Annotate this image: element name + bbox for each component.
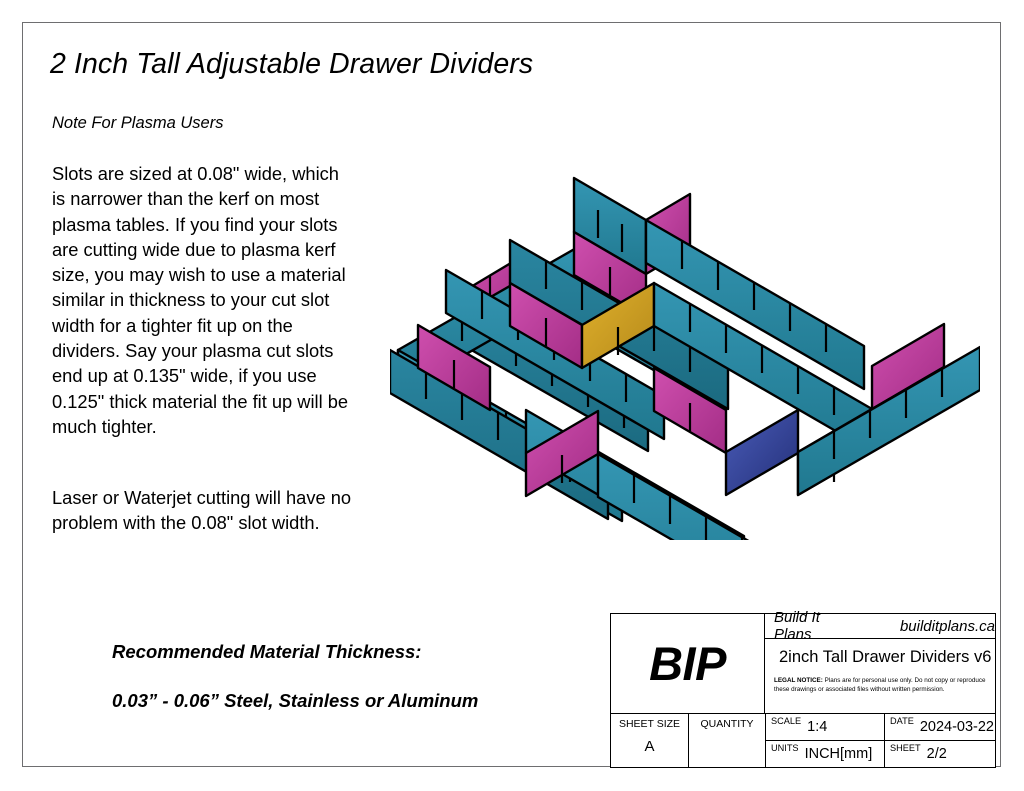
legal-notice: LEGAL NOTICE: Plans are for personal use…	[765, 675, 995, 713]
bip-logo: BIP	[649, 636, 726, 691]
part-name-row: 2inch Tall Drawer Dividers v6	[765, 639, 995, 675]
sheet-size-value: A	[611, 738, 688, 755]
legal-notice-label: LEGAL NOTICE:	[774, 677, 823, 684]
recommended-thickness-title: Recommended Material Thickness:	[112, 641, 421, 663]
units-value: INCH[mm]	[805, 746, 873, 762]
logo-cell: BIP	[611, 614, 765, 713]
quantity-label: QUANTITY	[689, 718, 765, 730]
isometric-drawing	[390, 150, 980, 540]
drawing-page: 2 Inch Tall Adjustable Drawer Dividers N…	[0, 0, 1024, 791]
recommended-thickness-spec: 0.03” - 0.06” Steel, Stainless or Alumin…	[112, 690, 478, 712]
date-row: DATE 2024-03-22	[885, 714, 995, 741]
sheet-label: SHEET	[890, 743, 921, 753]
title-block: BIP Build It Plans builditplans.ca 2inch…	[610, 613, 996, 768]
part-name: 2inch Tall Drawer Dividers v6	[779, 648, 991, 667]
scale-units-column: SCALE 1:4 UNITS INCH[mm]	[766, 714, 885, 767]
date-sheet-column: DATE 2024-03-22 SHEET 2/2	[885, 714, 995, 767]
title-block-upper: BIP Build It Plans builditplans.ca 2inch…	[611, 614, 995, 713]
scale-value: 1:4	[807, 719, 827, 735]
sheet-size-cell: SHEET SIZE A	[611, 714, 689, 767]
units-label: UNITS	[771, 743, 799, 753]
note-paragraph-1: Slots are sized at 0.08" wide, which is …	[52, 161, 357, 439]
website-link[interactable]: builditplans.ca	[900, 618, 995, 635]
brand-name: Build It Plans	[774, 609, 848, 643]
note-paragraph-2: Laser or Waterjet cutting will have no p…	[52, 485, 357, 536]
sheet-value: 2/2	[927, 746, 947, 762]
sheet-row: SHEET 2/2	[885, 741, 995, 768]
note-heading: Note For Plasma Users	[52, 114, 223, 133]
quantity-cell: QUANTITY	[689, 714, 766, 767]
title-block-info-column: Build It Plans builditplans.ca 2inch Tal…	[765, 614, 995, 713]
scale-label: SCALE	[771, 716, 801, 726]
date-value: 2024-03-22	[920, 719, 994, 735]
sheet-size-label: SHEET SIZE	[611, 718, 688, 730]
page-title: 2 Inch Tall Adjustable Drawer Dividers	[50, 48, 533, 81]
brand-row: Build It Plans builditplans.ca	[765, 614, 995, 639]
scale-row: SCALE 1:4	[766, 714, 884, 741]
date-label: DATE	[890, 716, 914, 726]
title-block-lower: SHEET SIZE A QUANTITY SCALE 1:4 UNITS IN…	[611, 713, 995, 767]
units-row: UNITS INCH[mm]	[766, 741, 884, 768]
